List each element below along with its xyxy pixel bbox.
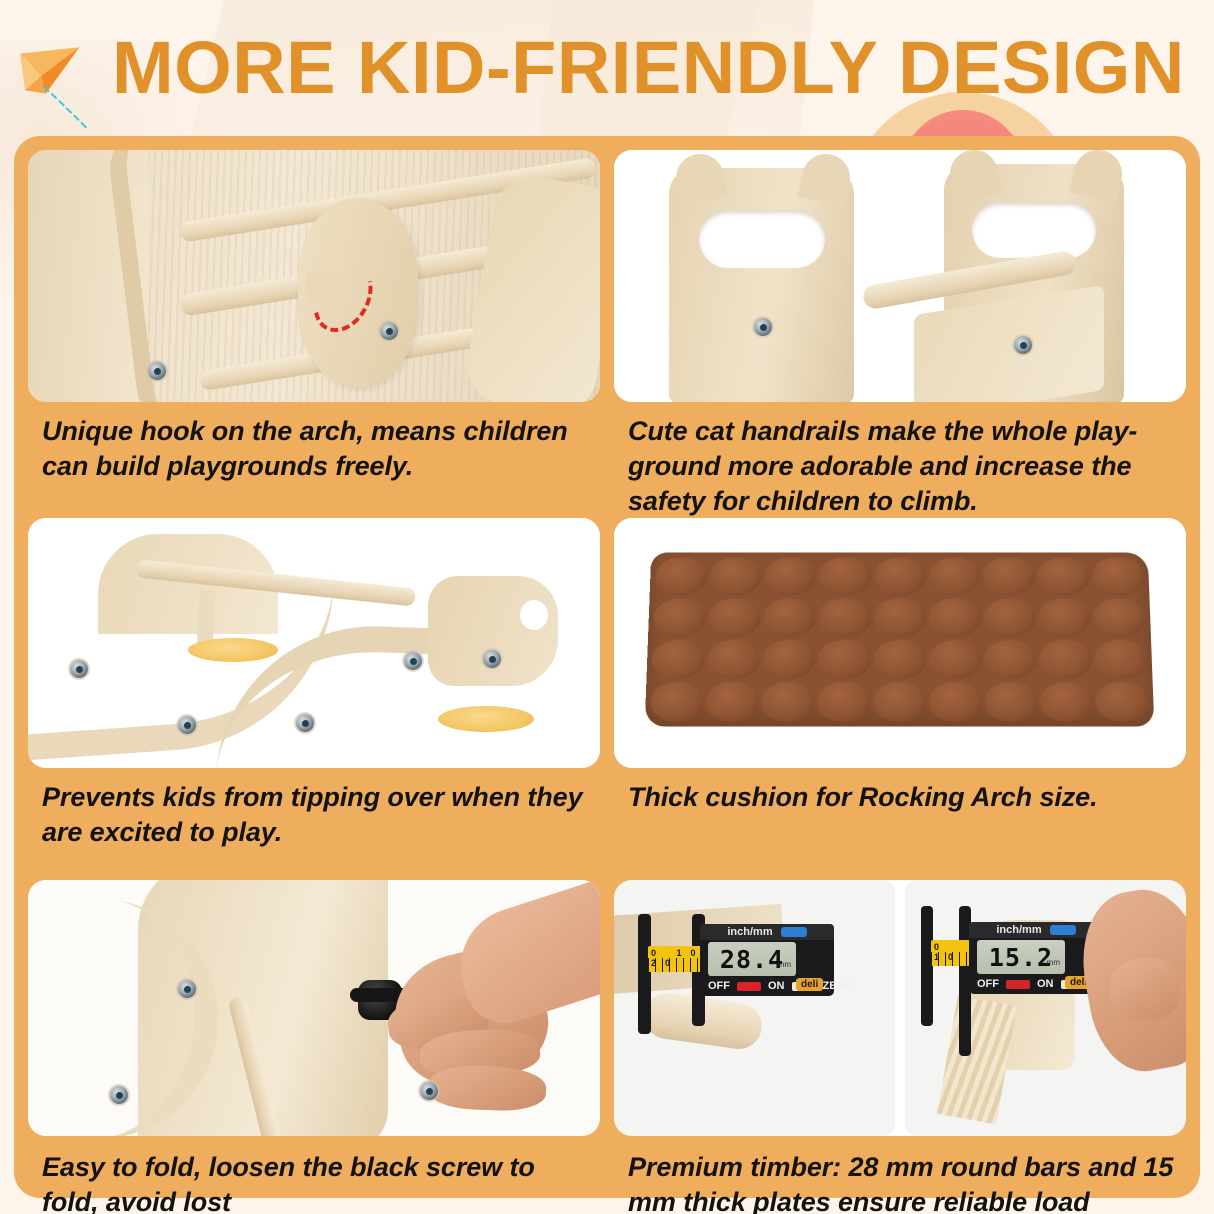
feature-card-fold-screw: Easy to fold, loosen the black screw to … bbox=[28, 880, 600, 1212]
cushion-body bbox=[645, 552, 1155, 726]
caliper-off-label-b: OFF bbox=[977, 978, 999, 990]
caption-cat-handrails: Cute cat handrails make the whole play-g… bbox=[614, 402, 1186, 519]
page-title: MORE KID-FRIENDLY DESIGN bbox=[112, 26, 1202, 110]
header: MORE KID-FRIENDLY DESIGN bbox=[0, 0, 1214, 136]
screw-hook-plate bbox=[380, 322, 398, 340]
caliper-on-label-a: ON bbox=[768, 980, 785, 992]
caliper-unit-button-a[interactable] bbox=[781, 927, 807, 937]
anti-tip-pad-right bbox=[438, 706, 534, 732]
caliper-brand-a: deli bbox=[796, 978, 823, 991]
caliper-unit-button-b[interactable] bbox=[1050, 925, 1076, 935]
caliper-photo-round-bar: 0 10 20 inch/mm 28.4 mm bbox=[614, 880, 895, 1136]
caliper-mode-label-a: inch/mm bbox=[727, 926, 772, 938]
feature-card-cushion: Thick cushion for Rocking Arch size. bbox=[614, 518, 1186, 880]
caliper-mode-label-b: inch/mm bbox=[996, 924, 1041, 936]
caliper-screen-b: 15.2 mm bbox=[977, 940, 1065, 974]
rocker-head bbox=[428, 576, 558, 686]
caliper-reading-a: 28.4 bbox=[720, 945, 784, 974]
caliper-unit-a: mm bbox=[778, 960, 791, 969]
cushion-tufts bbox=[650, 557, 1150, 721]
rocker-head-notch bbox=[520, 600, 548, 630]
caliper-on-label-b: ON bbox=[1037, 978, 1054, 990]
caption-hook-on-arch: Unique hook on the arch, means children … bbox=[28, 402, 600, 484]
feature-card-anti-tip: Prevents kids from tipping over when the… bbox=[28, 518, 600, 880]
photo-anti-tip bbox=[28, 518, 600, 768]
screw-fold-2 bbox=[110, 1086, 128, 1104]
screw-handrail-right bbox=[1014, 336, 1032, 354]
feature-grid: Unique hook on the arch, means children … bbox=[14, 136, 1200, 1198]
caliper-mode-bar-b: inch/mm bbox=[969, 922, 1103, 938]
caliper-jaw-b-left bbox=[921, 906, 933, 1026]
photo-cat-handrails bbox=[614, 150, 1186, 402]
screw-rocker-5 bbox=[483, 650, 501, 668]
infographic-page: MORE KID-FRIENDLY DESIGN bbox=[0, 0, 1214, 1214]
feature-panel: Unique hook on the arch, means children … bbox=[14, 136, 1200, 1198]
hand-thumb-b bbox=[1108, 956, 1182, 1023]
caliper-mode-bar-a: inch/mm bbox=[700, 924, 834, 940]
caption-anti-tip: Prevents kids from tipping over when the… bbox=[28, 768, 600, 850]
feature-card-cat-handrails: Cute cat handrails make the whole play-g… bbox=[614, 150, 1186, 518]
screw-rocker-3 bbox=[296, 714, 314, 732]
caption-cushion: Thick cushion for Rocking Arch size. bbox=[614, 768, 1186, 815]
caption-premium-timber: Premium timber: 28 mm round bars and 15 … bbox=[614, 1136, 1186, 1214]
handle-cutout-left bbox=[699, 210, 825, 268]
screw-fold-1 bbox=[178, 980, 196, 998]
caliper-off-label-a: OFF bbox=[708, 980, 730, 992]
plywood-layers-b bbox=[937, 996, 1017, 1125]
screw-fold-3 bbox=[420, 1082, 438, 1100]
screw-rocker-4 bbox=[404, 652, 422, 670]
screw-rocker-2 bbox=[178, 716, 196, 734]
photo-fold-screw bbox=[28, 880, 600, 1136]
screw-left-plate bbox=[148, 362, 166, 380]
handle-cutout-right bbox=[972, 202, 1096, 258]
caliper-on-switch-b[interactable] bbox=[1006, 980, 1030, 989]
caliper-buttons-a: OFF ON ZERO bbox=[708, 980, 853, 992]
anti-tip-pad-left bbox=[188, 638, 278, 662]
caliper-unit-b: mm bbox=[1047, 958, 1060, 967]
caliper-zero-label-a: ZERO bbox=[823, 980, 854, 992]
caliper-jaw-a-left bbox=[638, 914, 651, 1034]
caliper-photo-pair: 0 10 20 inch/mm 28.4 mm bbox=[614, 880, 1186, 1136]
paper-plane-icon bbox=[14, 44, 92, 108]
caliper-screen-a: 28.4 mm bbox=[708, 942, 796, 976]
feature-card-hook-on-arch: Unique hook on the arch, means children … bbox=[28, 150, 600, 518]
feature-card-premium-timber: 0 10 20 inch/mm 28.4 mm bbox=[614, 880, 1186, 1212]
caption-fold-screw: Easy to fold, loosen the black screw to … bbox=[28, 1136, 600, 1214]
screw-handrail-left bbox=[754, 318, 772, 336]
photo-premium-timber: 0 10 20 inch/mm 28.4 mm bbox=[614, 880, 1186, 1136]
caliper-photo-plate: 0 10 inch/mm 15.2 mm bbox=[905, 880, 1186, 1136]
photo-hook-on-arch bbox=[28, 150, 600, 402]
caliper-on-switch-a[interactable] bbox=[737, 982, 761, 991]
screw-rocker-1 bbox=[70, 660, 88, 678]
caliper-reading-b: 15.2 bbox=[989, 943, 1053, 972]
photo-cushion bbox=[614, 518, 1186, 768]
